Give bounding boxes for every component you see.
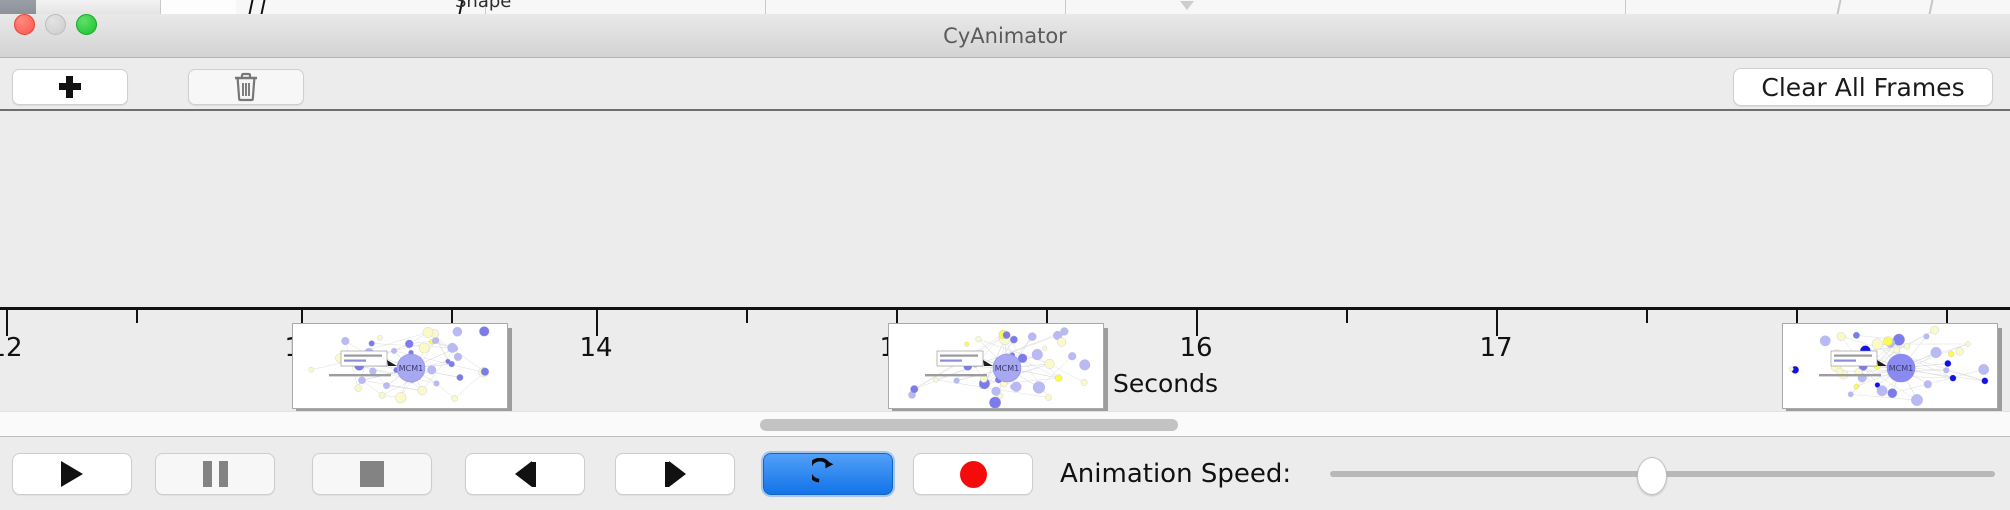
frame-thumbnail[interactable]: MCM1 — [888, 323, 1104, 409]
loop-button[interactable] — [763, 453, 893, 495]
bg-fragment-panel-b — [486, 0, 766, 14]
bg-fragment-toolbar — [36, 0, 161, 14]
playback-control-bar: Animation Speed: — [0, 438, 2010, 510]
record-button[interactable] — [913, 453, 1033, 495]
delete-frame-button[interactable] — [188, 69, 304, 105]
svg-text:MCM1: MCM1 — [399, 364, 423, 373]
svg-text:MCM1: MCM1 — [1889, 364, 1913, 373]
stop-icon — [360, 461, 384, 487]
timeline-tick-minor — [746, 310, 748, 323]
timeline-tick-label: 12 — [0, 333, 23, 363]
timeline-scrollbar-thumb[interactable] — [760, 419, 1178, 431]
frame-thumbnail[interactable]: MCM1 — [292, 323, 508, 409]
skip-end-icon — [665, 461, 686, 487]
maximize-button[interactable] — [76, 14, 97, 35]
timeline-tick-minor — [1946, 310, 1948, 323]
pause-button[interactable] — [155, 453, 275, 495]
svg-text:MCM1: MCM1 — [995, 364, 1019, 373]
timeline-scrollbar[interactable] — [0, 411, 2010, 437]
last-frame-button[interactable] — [615, 453, 735, 495]
timeline-panel[interactable]: 12131415161718 Seconds MCM1MCM1MCM1 — [0, 111, 2010, 411]
bg-fragment-panel-e — [1626, 0, 2010, 14]
close-button[interactable] — [14, 14, 35, 35]
frame-thumbnail[interactable]: MCM1 — [1782, 323, 1998, 409]
bg-fragment-dark — [0, 0, 36, 14]
timeline-tick-minor — [1646, 310, 1648, 323]
plus-icon — [59, 76, 81, 98]
timeline-axis-title: Seconds — [1113, 369, 1218, 398]
network-graph-preview: MCM1 — [889, 324, 1103, 408]
background-window-fragments: Shape — [0, 0, 2010, 14]
bg-fragment-panel-c — [766, 0, 1066, 14]
network-graph-preview: MCM1 — [1783, 324, 1997, 408]
bg-fragment-shape-label: Shape — [455, 0, 511, 9]
window-title: CyAnimator — [0, 14, 2010, 58]
first-frame-button[interactable] — [465, 453, 585, 495]
skip-start-icon — [515, 461, 536, 487]
bg-fragment-panel-d — [1066, 0, 1626, 14]
timeline-tick-minor — [136, 310, 138, 323]
animation-speed-slider[interactable] — [1330, 453, 1995, 495]
stop-button[interactable] — [312, 453, 432, 495]
loop-icon — [812, 458, 844, 490]
timeline-tick-label: 16 — [1179, 333, 1212, 363]
traffic-lights — [14, 14, 97, 35]
minimize-button[interactable] — [45, 14, 66, 35]
clear-all-frames-button[interactable]: Clear All Frames — [1733, 68, 1993, 106]
record-icon — [960, 461, 987, 488]
animation-speed-label: Animation Speed: — [1060, 453, 1291, 495]
timeline-tick-label: 17 — [1479, 333, 1512, 363]
title-bar: CyAnimator — [0, 14, 2010, 58]
bg-fragment-arrow — [1180, 1, 1194, 10]
toolbar: Clear All Frames — [0, 58, 2010, 111]
network-graph-preview: MCM1 — [293, 324, 507, 408]
pause-icon — [203, 461, 228, 487]
play-icon — [61, 461, 83, 487]
slider-thumb[interactable] — [1637, 457, 1667, 495]
bg-fragment-panel-a — [236, 0, 486, 14]
clear-all-frames-label: Clear All Frames — [1761, 73, 1964, 102]
timeline-tick-minor — [451, 310, 453, 323]
timeline-tick-label: 14 — [579, 333, 612, 363]
timeline-tick-minor — [1346, 310, 1348, 323]
add-frame-button[interactable] — [12, 69, 128, 105]
play-button[interactable] — [12, 453, 132, 495]
cyanimator-window: Shape CyAnimator Clear All Frames — [0, 0, 2010, 510]
trash-icon — [233, 72, 259, 102]
timeline-tick-minor — [1046, 310, 1048, 323]
